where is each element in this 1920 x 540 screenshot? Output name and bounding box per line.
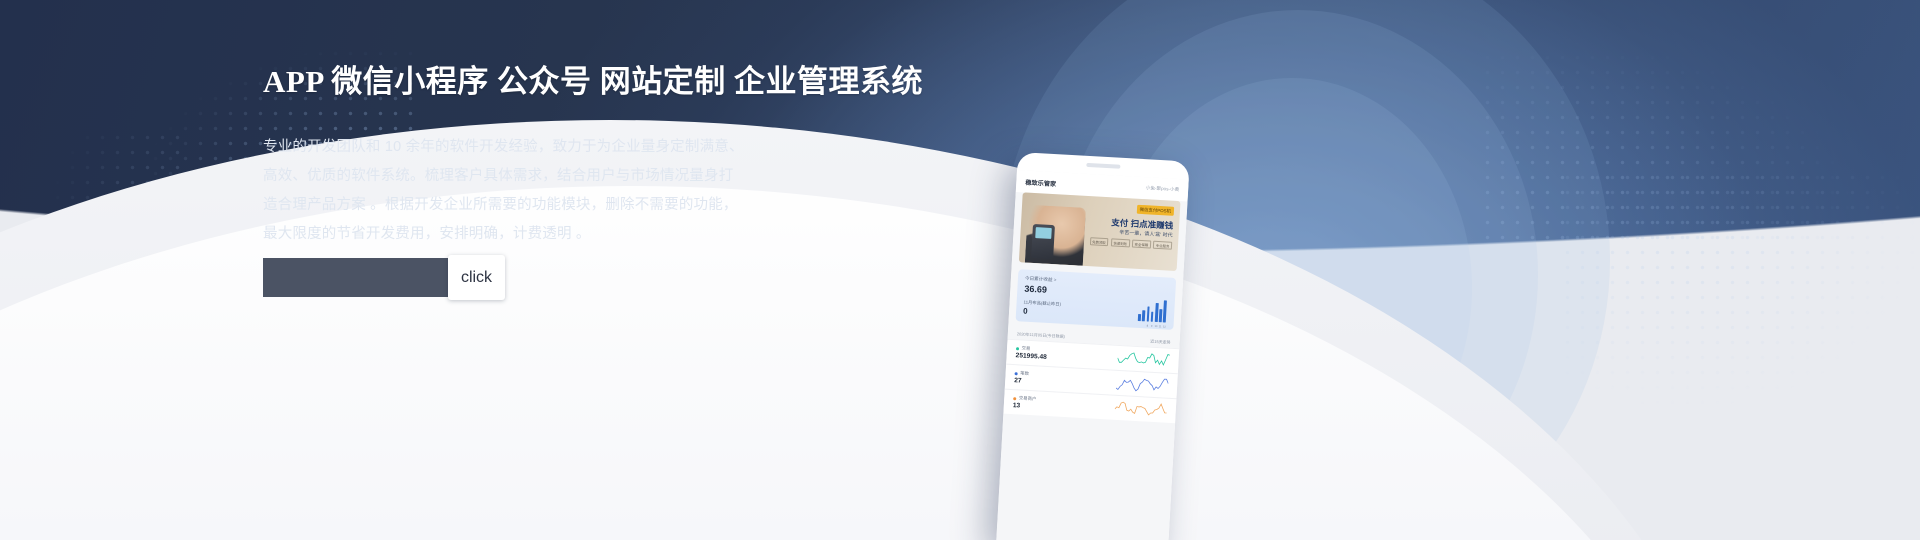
metric-label: 交易商户 <box>1013 395 1036 402</box>
metric-name-text: 笔数 <box>1020 370 1029 376</box>
mini-bar <box>1142 310 1145 322</box>
mini-bar <box>1151 312 1154 322</box>
mini-bar <box>1138 313 1141 321</box>
metric-value: 27 <box>1014 377 1029 385</box>
banner-chip: 安全保障 <box>1132 240 1151 249</box>
phone-speaker <box>1086 163 1120 169</box>
description-line-1: 专业的开发团队和 10 余年的软件开发经验，致力于为企业量身定制满意、 <box>263 133 983 162</box>
pos-terminal-icon <box>1031 224 1055 259</box>
phone-mockup: 稳致乐管家 小兔-聚pos-小黄 微信支付POS机 支付 扫点准赚钱 辛苦一辈，… <box>996 152 1190 540</box>
metric-color-dot <box>1013 397 1016 400</box>
metric-info: 交易251995.48 <box>1015 345 1047 361</box>
banner-tag: 微信支付POS机 <box>1136 205 1174 216</box>
mini-bar-tick: 9 <box>1150 325 1153 328</box>
banner-chip: 快速到账 <box>1111 238 1130 247</box>
metric-color-dot <box>1016 347 1019 350</box>
metric-info: 交易商户13 <box>1013 395 1037 410</box>
earnings-card[interactable]: 今日累计收益 > 36.69 11月布品(截止昨日) 0 89101112 <box>1016 269 1177 330</box>
hero-description: 专业的开发团队和 10 余年的软件开发经验，致力于为企业量身定制满意、 高效、优… <box>263 133 983 249</box>
banner-chip: 专业服务 <box>1153 241 1172 250</box>
app-account-label: 小兔-聚pos-小黄 <box>1146 185 1180 193</box>
metrics-trend-label: 近15天走势 <box>1150 339 1171 346</box>
mini-bar-tick: 11 <box>1159 325 1162 328</box>
mini-bar-tick: 8 <box>1146 324 1149 327</box>
phone-body: 稳致乐管家 小兔-聚pos-小黄 微信支付POS机 支付 扫点准赚钱 辛苦一辈，… <box>996 152 1190 540</box>
description-line-4: 最大限度的节省开发费用，安排明确，计费透明 。 <box>263 220 983 249</box>
page-title: APP 微信小程序 公众号 网站定制 企业管理系统 <box>263 60 983 104</box>
description-line-3: 造合理产品方案 。根据开发企业所需要的功能模块，删除不需要的功能， <box>263 191 983 220</box>
description-line-2: 高效、优质的软件系统。梳理客户具体需求，结合用户与市场情况量身打 <box>263 162 983 191</box>
metrics-date-label: 2020年11月05日(今日数据) <box>1017 331 1065 340</box>
mini-bar <box>1146 306 1149 322</box>
sparkline-chart <box>1114 399 1167 420</box>
metric-value: 251995.48 <box>1015 352 1047 361</box>
mini-bar-chart <box>1138 299 1167 323</box>
metric-name-text: 交易 <box>1021 346 1030 352</box>
metric-label: 笔数 <box>1014 370 1029 377</box>
mini-bar-axis: 89101112 <box>1146 324 1165 328</box>
promo-banner[interactable]: 微信支付POS机 支付 扫点准赚钱 辛苦一辈，请人'盆' 时代 免费领取 快速到… <box>1019 192 1181 271</box>
cta-bar[interactable]: click <box>263 258 460 297</box>
mini-bar-tick: 10 <box>1154 325 1157 328</box>
sparkline-chart <box>1116 374 1169 395</box>
banner-chip: 免费领取 <box>1089 237 1108 246</box>
mini-bar-tick: 12 <box>1163 325 1166 328</box>
banner-chip-list: 免费领取 快速到账 安全保障 专业服务 <box>1089 237 1172 250</box>
mini-bar <box>1155 303 1159 322</box>
click-button[interactable]: click <box>448 255 505 300</box>
metric-info: 笔数27 <box>1014 370 1029 385</box>
phone-screen: 稳致乐管家 小兔-聚pos-小黄 微信支付POS机 支付 扫点准赚钱 辛苦一辈，… <box>996 170 1189 540</box>
metrics-list: 交易251995.48笔数27交易商户13 <box>1003 339 1179 423</box>
metric-value: 13 <box>1013 402 1036 410</box>
metric-name-text: 交易商户 <box>1019 395 1037 402</box>
app-title: 稳致乐管家 <box>1025 177 1056 188</box>
hero-copy: APP 微信小程序 公众号 网站定制 企业管理系统 专业的开发团队和 10 余年… <box>263 60 983 249</box>
sparkline-chart <box>1117 349 1170 370</box>
mini-bar <box>1159 309 1162 323</box>
metric-color-dot <box>1015 372 1018 375</box>
hero-banner: APP 微信小程序 公众号 网站定制 企业管理系统 专业的开发团队和 10 余年… <box>0 0 1920 540</box>
